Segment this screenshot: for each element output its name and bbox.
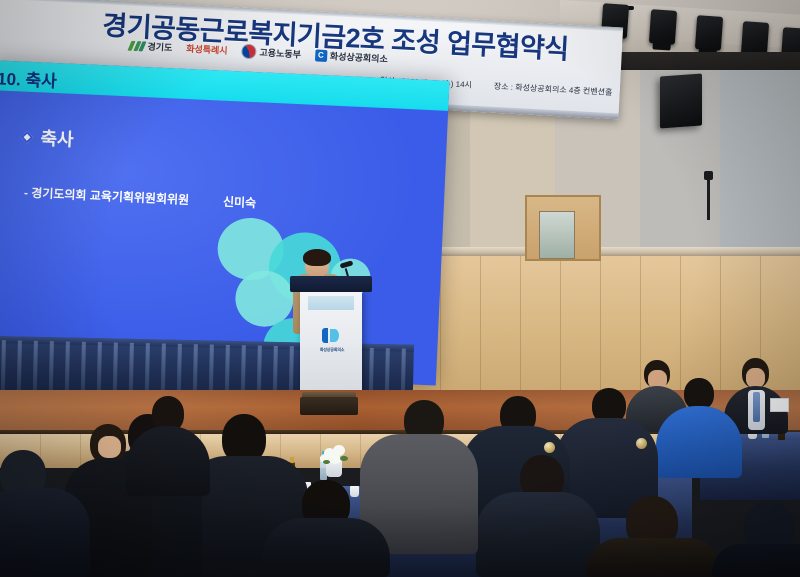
chamber-mark-icon: C [315,49,328,62]
stage-step [300,397,358,415]
stage-light-icon [649,9,677,45]
diamond-bullet-icon [21,130,34,143]
speaker-hair [303,249,331,266]
slide-heading: 축사 [22,124,74,152]
stage-light-icon [695,15,723,51]
gyeonggi-mark-icon [129,40,145,51]
podium-nameplate [308,296,354,310]
podium: 화성상공회의소 [300,288,362,396]
dash-bullet: - [24,186,29,200]
logo-label: 화성특례시 [186,42,228,57]
logo-label: 고용노동부 [259,46,301,61]
door[interactable] [525,195,601,261]
speaker-name: 신미숙 [223,193,257,211]
logo-label: 경기도 [147,40,172,54]
wall-microphone-icon [707,178,710,220]
slide-section-title: 10. 축사 [0,64,57,92]
hwaseong-chamber-logo: C 화성상공회의소 [315,48,389,65]
necktie [753,392,760,422]
name-badge [770,398,789,412]
paper-cup [350,486,359,497]
flower-arrangement [320,444,350,478]
taegeuk-icon [241,44,257,60]
podium-top-surface [290,276,372,292]
chamber-logo-icon [322,328,339,343]
podium-org-label: 화성상공회의소 [312,347,352,353]
hwaseong-city-logo: 화성특례시 [186,42,228,57]
lapel-badge-icon [544,442,555,453]
moel-logo: 고용노동부 [241,44,301,62]
gyeonggi-do-logo: 경기도 [129,39,172,54]
lapel-badge-icon [636,438,647,449]
banner-place: 장소 : 화성상공회의소 4층 컨벤션홀 [494,81,613,98]
slide-heading-text: 축사 [40,124,74,151]
wall-speaker-icon [660,74,702,129]
logo-label: 화성상공회의소 [330,49,389,65]
event-photo-scene: 경기공동근로복지기금2호 조성 업무협약식 경기도 화성특례시 고용노동부 C … [0,0,800,577]
door-window [539,211,575,259]
